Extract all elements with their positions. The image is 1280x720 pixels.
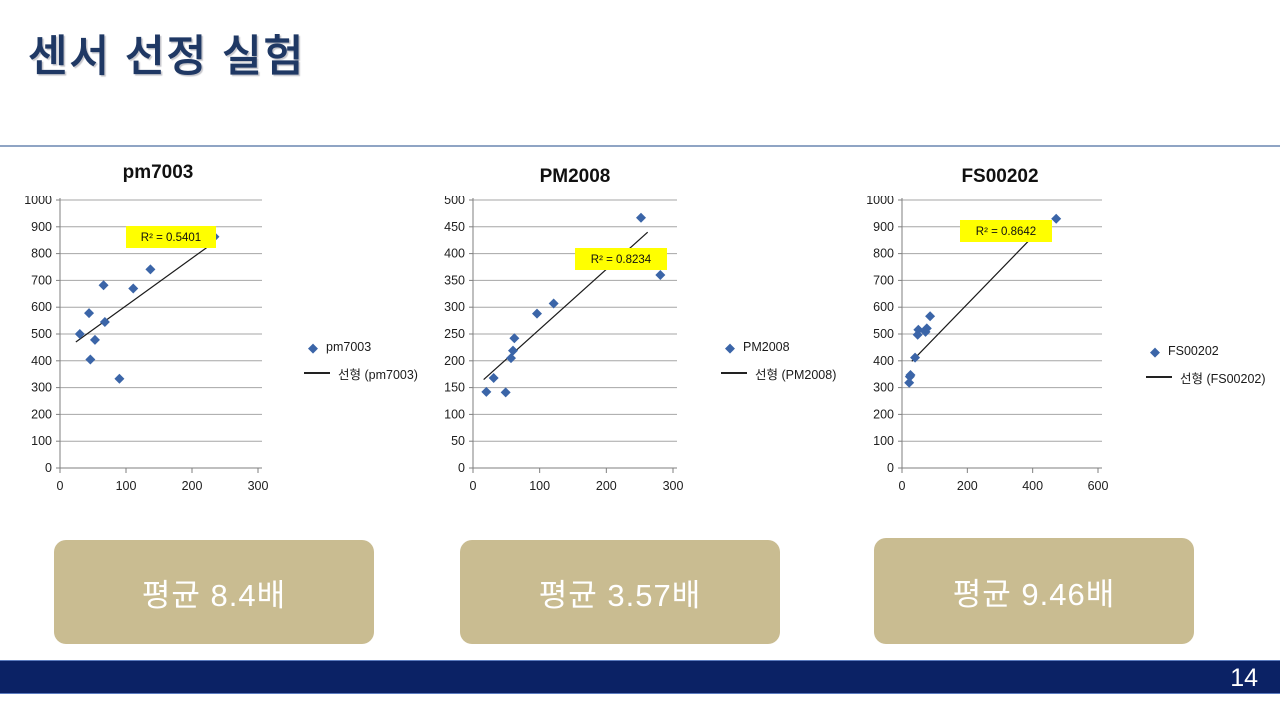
callout-box-pm2008: 평균 3.57배	[460, 540, 780, 644]
svg-text:0: 0	[899, 479, 906, 493]
legend-row-trend: 선형 (pm7003)	[304, 360, 418, 386]
svg-text:900: 900	[873, 220, 894, 234]
svg-text:800: 800	[31, 247, 52, 261]
svg-text:400: 400	[1022, 479, 1043, 493]
svg-text:450: 450	[444, 220, 465, 234]
legend-trend-label: 선형 (FS00202)	[1176, 368, 1266, 387]
chart-title: PM2008	[425, 166, 725, 188]
svg-text:200: 200	[444, 354, 465, 368]
chart-legend: ◆ pm7003 선형 (pm7003)	[304, 334, 418, 386]
svg-text:1000: 1000	[866, 196, 894, 207]
svg-text:300: 300	[663, 479, 684, 493]
scatter-plot-pm2008: 0501001502002503003504004505000100200300…	[425, 196, 845, 516]
svg-text:500: 500	[31, 327, 52, 341]
svg-text:600: 600	[873, 300, 894, 314]
diamond-marker-icon: ◆	[721, 341, 739, 354]
svg-text:500: 500	[873, 327, 894, 341]
legend-row-series: ◆ PM2008	[721, 334, 836, 360]
legend-series-label: pm7003	[322, 340, 371, 354]
svg-text:200: 200	[182, 479, 203, 493]
svg-text:700: 700	[31, 273, 52, 287]
svg-text:600: 600	[31, 300, 52, 314]
callout-box-pm7003: 평균 8.4배	[54, 540, 374, 644]
svg-text:300: 300	[248, 479, 269, 493]
legend-series-label: FS00202	[1164, 344, 1219, 358]
chart-title: pm7003	[8, 162, 308, 184]
svg-text:100: 100	[116, 479, 137, 493]
svg-text:50: 50	[451, 434, 465, 448]
scatter-plot-pm7003: 0100200300400500600700800900100001002003…	[8, 196, 428, 516]
chart-block-pm2008: PM2008 050100150200250300350400450500010…	[425, 150, 845, 520]
legend-row-series: ◆ pm7003	[304, 334, 418, 360]
diamond-marker-icon: ◆	[1146, 345, 1164, 358]
charts-row: pm7003 010020030040050060070080090010000…	[0, 150, 1280, 530]
svg-text:R² = 0.5401: R² = 0.5401	[141, 232, 201, 244]
svg-text:300: 300	[444, 300, 465, 314]
svg-text:350: 350	[444, 273, 465, 287]
svg-text:100: 100	[444, 407, 465, 421]
diamond-marker-icon: ◆	[304, 341, 322, 354]
svg-text:200: 200	[31, 407, 52, 421]
header-divider	[0, 145, 1280, 147]
svg-text:400: 400	[31, 354, 52, 368]
legend-series-label: PM2008	[739, 340, 790, 354]
svg-text:0: 0	[458, 461, 465, 475]
legend-trend-label: 선형 (pm7003)	[334, 364, 418, 383]
chart-block-fs00202: FS00202 01002003004005006007008009001000…	[850, 150, 1270, 520]
callout-box-fs00202: 평균 9.46배	[874, 538, 1194, 644]
svg-text:100: 100	[31, 434, 52, 448]
svg-text:200: 200	[873, 407, 894, 421]
svg-text:0: 0	[57, 479, 64, 493]
svg-text:1000: 1000	[24, 196, 52, 207]
svg-text:250: 250	[444, 327, 465, 341]
svg-text:300: 300	[31, 381, 52, 395]
chart-legend: ◆ PM2008 선형 (PM2008)	[721, 334, 836, 386]
svg-text:200: 200	[957, 479, 978, 493]
svg-text:400: 400	[444, 247, 465, 261]
trendline-swatch-icon	[721, 372, 747, 374]
legend-row-trend: 선형 (FS00202)	[1146, 364, 1266, 390]
plot-svg: 0100200300400500600700800900100001002003…	[8, 196, 308, 516]
svg-text:0: 0	[470, 479, 477, 493]
scatter-plot-fs00202: 0100200300400500600700800900100002004006…	[850, 196, 1270, 516]
svg-text:0: 0	[45, 461, 52, 475]
trendline-swatch-icon	[304, 372, 330, 374]
footer-bar	[0, 660, 1280, 694]
svg-text:100: 100	[873, 434, 894, 448]
svg-text:700: 700	[873, 273, 894, 287]
plot-svg: 0100200300400500600700800900100002004006…	[850, 196, 1150, 516]
callout-label: 평균 3.57배	[539, 570, 702, 615]
page-number: 14	[1230, 663, 1258, 693]
svg-text:600: 600	[1088, 479, 1109, 493]
svg-text:150: 150	[444, 381, 465, 395]
svg-text:100: 100	[529, 479, 550, 493]
trendline-swatch-icon	[1146, 376, 1172, 378]
chart-block-pm7003: pm7003 010020030040050060070080090010000…	[8, 150, 428, 520]
page-title: 센서 선정 실험	[28, 22, 305, 84]
callout-label: 평균 9.46배	[953, 569, 1116, 614]
callout-label: 평균 8.4배	[142, 570, 286, 615]
svg-text:0: 0	[887, 461, 894, 475]
legend-row-series: ◆ FS00202	[1146, 338, 1266, 364]
svg-text:R² = 0.8234: R² = 0.8234	[591, 254, 652, 266]
svg-text:900: 900	[31, 220, 52, 234]
svg-text:R² = 0.8642: R² = 0.8642	[976, 226, 1036, 238]
plot-svg: 0501001502002503003504004505000100200300…	[425, 196, 725, 516]
svg-text:800: 800	[873, 247, 894, 261]
legend-row-trend: 선형 (PM2008)	[721, 360, 836, 386]
legend-trend-label: 선형 (PM2008)	[751, 364, 836, 383]
svg-text:500: 500	[444, 196, 465, 207]
slide: 센서 선정 실험 pm7003 010020030040050060070080…	[0, 0, 1280, 720]
chart-legend: ◆ FS00202 선형 (FS00202)	[1146, 338, 1266, 390]
svg-text:200: 200	[596, 479, 617, 493]
svg-text:300: 300	[873, 381, 894, 395]
svg-text:400: 400	[873, 354, 894, 368]
chart-title: FS00202	[850, 166, 1150, 188]
